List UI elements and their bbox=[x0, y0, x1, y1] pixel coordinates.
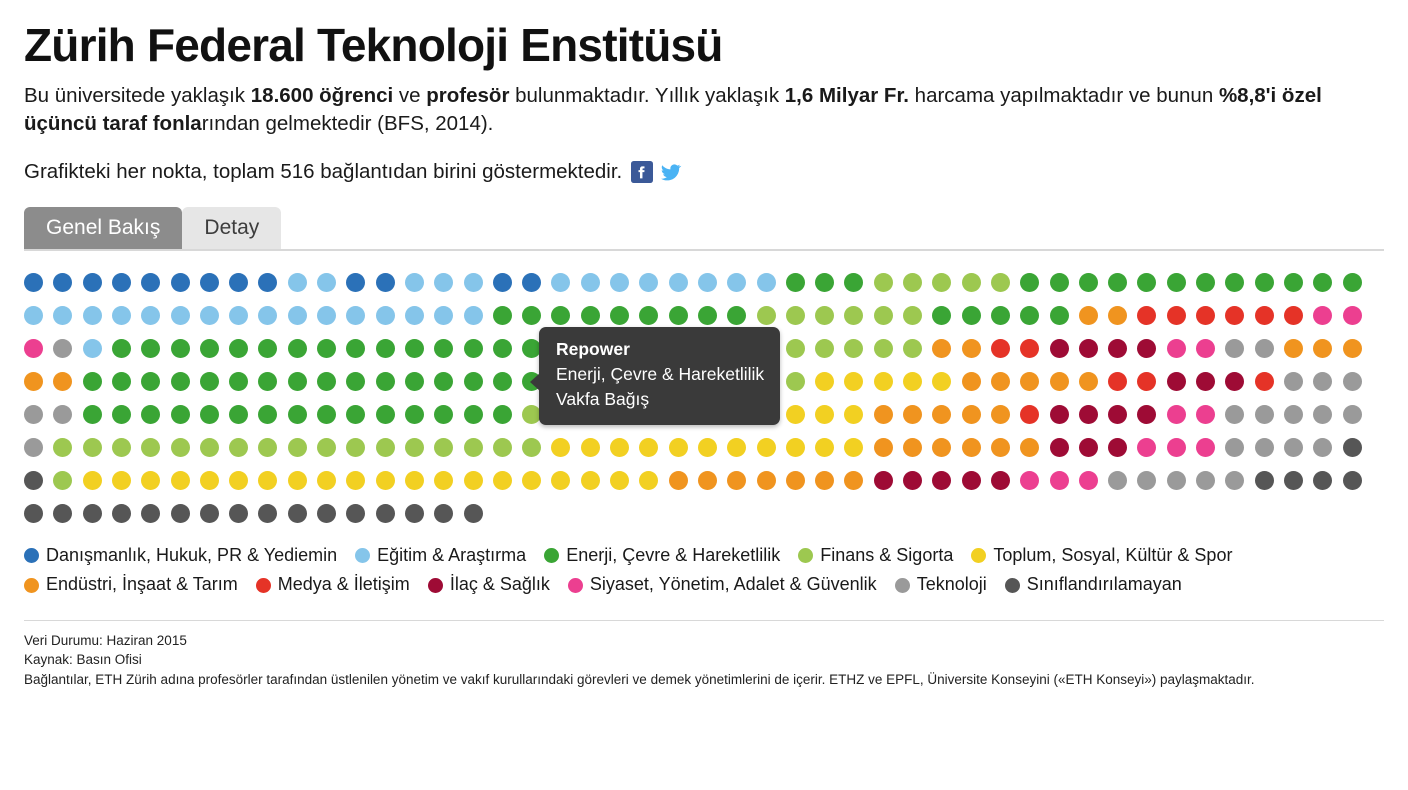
dot[interactable] bbox=[815, 372, 834, 391]
dot[interactable] bbox=[991, 372, 1010, 391]
dot[interactable] bbox=[1225, 438, 1244, 457]
dot[interactable] bbox=[1255, 471, 1274, 490]
dot[interactable] bbox=[1196, 405, 1215, 424]
dot[interactable] bbox=[376, 273, 395, 292]
dot[interactable] bbox=[141, 339, 160, 358]
dot[interactable] bbox=[844, 273, 863, 292]
dot[interactable] bbox=[24, 306, 43, 325]
dot[interactable] bbox=[376, 504, 395, 523]
dot[interactable] bbox=[727, 438, 746, 457]
dot[interactable] bbox=[639, 438, 658, 457]
dot[interactable] bbox=[83, 405, 102, 424]
dot[interactable] bbox=[1343, 273, 1362, 292]
dot[interactable] bbox=[786, 372, 805, 391]
dot[interactable] bbox=[24, 471, 43, 490]
dot[interactable] bbox=[53, 438, 72, 457]
dot[interactable] bbox=[405, 372, 424, 391]
dot[interactable] bbox=[522, 306, 541, 325]
dot[interactable] bbox=[991, 273, 1010, 292]
dot[interactable] bbox=[962, 372, 981, 391]
dot[interactable] bbox=[229, 438, 248, 457]
dot[interactable] bbox=[991, 438, 1010, 457]
dot[interactable] bbox=[551, 438, 570, 457]
dot[interactable] bbox=[229, 306, 248, 325]
dot[interactable] bbox=[171, 405, 190, 424]
dot[interactable] bbox=[1108, 438, 1127, 457]
dot[interactable] bbox=[932, 438, 951, 457]
dot[interactable] bbox=[434, 306, 453, 325]
dot[interactable] bbox=[141, 405, 160, 424]
dot[interactable] bbox=[874, 339, 893, 358]
dot[interactable] bbox=[786, 471, 805, 490]
dot[interactable] bbox=[1167, 471, 1186, 490]
legend-item-endustri[interactable]: Endüstri, İnşaat & Tarım bbox=[24, 570, 238, 599]
dot[interactable] bbox=[112, 438, 131, 457]
dot[interactable] bbox=[1167, 438, 1186, 457]
dot[interactable] bbox=[844, 339, 863, 358]
legend-item-danismanlik[interactable]: Danışmanlık, Hukuk, PR & Yediemin bbox=[24, 541, 337, 570]
dot[interactable] bbox=[434, 273, 453, 292]
dot[interactable] bbox=[991, 339, 1010, 358]
dot[interactable] bbox=[757, 273, 776, 292]
dot[interactable] bbox=[1196, 339, 1215, 358]
dot[interactable] bbox=[258, 504, 277, 523]
dot[interactable] bbox=[1137, 405, 1156, 424]
dot[interactable] bbox=[346, 339, 365, 358]
dot[interactable] bbox=[1196, 471, 1215, 490]
dot[interactable] bbox=[83, 471, 102, 490]
dot[interactable] bbox=[171, 438, 190, 457]
dot[interactable] bbox=[1079, 471, 1098, 490]
legend-item-siniflandirilamayan[interactable]: Sınıflandırılamayan bbox=[1005, 570, 1182, 599]
dot[interactable] bbox=[464, 372, 483, 391]
dot[interactable] bbox=[200, 471, 219, 490]
dot[interactable] bbox=[581, 438, 600, 457]
dot[interactable] bbox=[258, 306, 277, 325]
dot[interactable] bbox=[1020, 339, 1039, 358]
dot[interactable] bbox=[112, 405, 131, 424]
dot[interactable] bbox=[1020, 372, 1039, 391]
dot[interactable] bbox=[815, 438, 834, 457]
dot[interactable] bbox=[932, 405, 951, 424]
dot[interactable] bbox=[141, 273, 160, 292]
dot[interactable] bbox=[1108, 471, 1127, 490]
dot[interactable] bbox=[844, 471, 863, 490]
dot[interactable] bbox=[1079, 339, 1098, 358]
dot[interactable] bbox=[669, 471, 688, 490]
dot[interactable] bbox=[53, 405, 72, 424]
dot[interactable] bbox=[258, 372, 277, 391]
dot[interactable] bbox=[1020, 471, 1039, 490]
dot[interactable] bbox=[1137, 273, 1156, 292]
dot[interactable] bbox=[317, 438, 336, 457]
dot[interactable] bbox=[1108, 273, 1127, 292]
dot[interactable] bbox=[317, 306, 336, 325]
dot[interactable] bbox=[991, 306, 1010, 325]
dot[interactable] bbox=[1050, 273, 1069, 292]
dot[interactable] bbox=[786, 405, 805, 424]
dot[interactable] bbox=[815, 273, 834, 292]
dot[interactable] bbox=[141, 471, 160, 490]
dot[interactable] bbox=[1343, 471, 1362, 490]
dot[interactable] bbox=[434, 471, 453, 490]
dot[interactable] bbox=[434, 504, 453, 523]
dot[interactable] bbox=[83, 438, 102, 457]
dot[interactable] bbox=[464, 504, 483, 523]
dot[interactable] bbox=[932, 372, 951, 391]
dot[interactable] bbox=[493, 339, 512, 358]
dot[interactable] bbox=[903, 405, 922, 424]
dot[interactable] bbox=[376, 405, 395, 424]
dot[interactable] bbox=[551, 306, 570, 325]
dot[interactable] bbox=[1137, 306, 1156, 325]
dot[interactable] bbox=[346, 273, 365, 292]
dot[interactable] bbox=[903, 372, 922, 391]
dot[interactable] bbox=[1313, 405, 1332, 424]
dot[interactable] bbox=[786, 306, 805, 325]
dot[interactable] bbox=[229, 405, 248, 424]
dot[interactable] bbox=[493, 405, 512, 424]
dot[interactable] bbox=[53, 504, 72, 523]
dot[interactable] bbox=[522, 273, 541, 292]
dot[interactable] bbox=[346, 306, 365, 325]
dot[interactable] bbox=[434, 405, 453, 424]
dot[interactable] bbox=[727, 471, 746, 490]
dot[interactable] bbox=[1167, 372, 1186, 391]
dot[interactable] bbox=[610, 438, 629, 457]
dot[interactable] bbox=[1343, 339, 1362, 358]
legend-item-toplum[interactable]: Toplum, Sosyal, Kültür & Spor bbox=[971, 541, 1232, 570]
legend-item-enerji[interactable]: Enerji, Çevre & Hareketlilik bbox=[544, 541, 780, 570]
dot[interactable] bbox=[844, 438, 863, 457]
dot[interactable] bbox=[346, 438, 365, 457]
dot[interactable] bbox=[434, 372, 453, 391]
dot[interactable] bbox=[200, 372, 219, 391]
dot[interactable] bbox=[669, 306, 688, 325]
dot[interactable] bbox=[317, 504, 336, 523]
dot[interactable] bbox=[844, 405, 863, 424]
dot[interactable] bbox=[1079, 405, 1098, 424]
facebook-icon[interactable] bbox=[631, 161, 653, 183]
dot[interactable] bbox=[112, 471, 131, 490]
dot[interactable] bbox=[610, 306, 629, 325]
dot[interactable] bbox=[405, 306, 424, 325]
dot[interactable] bbox=[1079, 273, 1098, 292]
dot[interactable] bbox=[903, 339, 922, 358]
dot[interactable] bbox=[434, 438, 453, 457]
dot[interactable] bbox=[1167, 405, 1186, 424]
dot[interactable] bbox=[83, 306, 102, 325]
dot[interactable] bbox=[1020, 306, 1039, 325]
dot[interactable] bbox=[757, 438, 776, 457]
dot[interactable] bbox=[405, 504, 424, 523]
dot[interactable] bbox=[288, 306, 307, 325]
dot[interactable] bbox=[288, 471, 307, 490]
dot[interactable] bbox=[1050, 306, 1069, 325]
dot[interactable] bbox=[493, 372, 512, 391]
dot[interactable] bbox=[288, 504, 307, 523]
dot[interactable] bbox=[1137, 471, 1156, 490]
dot[interactable] bbox=[83, 273, 102, 292]
dot[interactable] bbox=[1196, 273, 1215, 292]
dot[interactable] bbox=[288, 438, 307, 457]
dot[interactable] bbox=[258, 339, 277, 358]
dot[interactable] bbox=[786, 273, 805, 292]
dot[interactable] bbox=[844, 306, 863, 325]
dot[interactable] bbox=[258, 405, 277, 424]
dot[interactable] bbox=[1313, 372, 1332, 391]
dot[interactable] bbox=[229, 372, 248, 391]
dot[interactable] bbox=[962, 438, 981, 457]
dot[interactable] bbox=[24, 273, 43, 292]
dot[interactable] bbox=[53, 372, 72, 391]
dot[interactable] bbox=[405, 405, 424, 424]
dot[interactable] bbox=[1167, 339, 1186, 358]
dot[interactable] bbox=[1020, 273, 1039, 292]
dot[interactable] bbox=[1313, 273, 1332, 292]
dot[interactable] bbox=[288, 273, 307, 292]
dot[interactable] bbox=[376, 471, 395, 490]
dot[interactable] bbox=[1343, 372, 1362, 391]
dot[interactable] bbox=[639, 471, 658, 490]
dot[interactable] bbox=[1225, 471, 1244, 490]
dot[interactable] bbox=[376, 438, 395, 457]
dot[interactable] bbox=[991, 405, 1010, 424]
dot[interactable] bbox=[405, 438, 424, 457]
dot[interactable] bbox=[727, 306, 746, 325]
dot[interactable] bbox=[346, 405, 365, 424]
legend-item-egitim[interactable]: Eğitim & Araştırma bbox=[355, 541, 526, 570]
tab-genel-bakis[interactable]: Genel Bakış bbox=[24, 207, 182, 249]
dot[interactable] bbox=[1284, 471, 1303, 490]
legend-item-ilac[interactable]: İlaç & Sağlık bbox=[428, 570, 550, 599]
dot[interactable] bbox=[962, 405, 981, 424]
dot[interactable] bbox=[434, 339, 453, 358]
dot[interactable] bbox=[1284, 438, 1303, 457]
legend-item-teknoloji[interactable]: Teknoloji bbox=[895, 570, 987, 599]
dot[interactable] bbox=[53, 306, 72, 325]
dot[interactable] bbox=[962, 339, 981, 358]
dot[interactable] bbox=[1284, 273, 1303, 292]
dot[interactable] bbox=[1196, 306, 1215, 325]
dot[interactable] bbox=[757, 471, 776, 490]
dot[interactable] bbox=[1196, 438, 1215, 457]
legend-item-finans[interactable]: Finans & Sigorta bbox=[798, 541, 953, 570]
dot[interactable] bbox=[171, 504, 190, 523]
dot[interactable] bbox=[551, 273, 570, 292]
dot[interactable] bbox=[24, 438, 43, 457]
dot[interactable] bbox=[610, 471, 629, 490]
dot[interactable] bbox=[1079, 306, 1098, 325]
dot[interactable] bbox=[53, 471, 72, 490]
dot[interactable] bbox=[1225, 405, 1244, 424]
dot[interactable] bbox=[141, 438, 160, 457]
dot[interactable] bbox=[962, 273, 981, 292]
dot[interactable] bbox=[200, 504, 219, 523]
dot[interactable] bbox=[53, 273, 72, 292]
dot[interactable] bbox=[903, 471, 922, 490]
dot[interactable] bbox=[1196, 372, 1215, 391]
dot[interactable] bbox=[815, 306, 834, 325]
dot[interactable] bbox=[317, 339, 336, 358]
dot[interactable] bbox=[200, 339, 219, 358]
dot[interactable] bbox=[464, 471, 483, 490]
dot[interactable] bbox=[24, 339, 43, 358]
dot[interactable] bbox=[288, 339, 307, 358]
dot[interactable] bbox=[288, 405, 307, 424]
dot[interactable] bbox=[1020, 438, 1039, 457]
dot[interactable] bbox=[258, 273, 277, 292]
dot[interactable] bbox=[229, 504, 248, 523]
dot[interactable] bbox=[757, 306, 776, 325]
dot[interactable] bbox=[962, 471, 981, 490]
dot[interactable] bbox=[844, 372, 863, 391]
dot[interactable] bbox=[405, 471, 424, 490]
dot[interactable] bbox=[698, 306, 717, 325]
dot[interactable] bbox=[1255, 405, 1274, 424]
dot[interactable] bbox=[874, 372, 893, 391]
dot[interactable] bbox=[83, 504, 102, 523]
dot[interactable] bbox=[229, 273, 248, 292]
dot[interactable] bbox=[1313, 471, 1332, 490]
dot[interactable] bbox=[1108, 306, 1127, 325]
dot[interactable] bbox=[464, 273, 483, 292]
dot[interactable] bbox=[1225, 306, 1244, 325]
dot[interactable] bbox=[376, 339, 395, 358]
dot[interactable] bbox=[317, 405, 336, 424]
dot[interactable] bbox=[1137, 438, 1156, 457]
dot[interactable] bbox=[1108, 405, 1127, 424]
dot[interactable] bbox=[1284, 405, 1303, 424]
dot[interactable] bbox=[171, 471, 190, 490]
dot[interactable] bbox=[53, 339, 72, 358]
dot[interactable] bbox=[903, 273, 922, 292]
dot[interactable] bbox=[346, 372, 365, 391]
dot[interactable] bbox=[932, 306, 951, 325]
dot[interactable] bbox=[1313, 438, 1332, 457]
dot[interactable] bbox=[874, 438, 893, 457]
dot[interactable] bbox=[493, 438, 512, 457]
dot[interactable] bbox=[200, 306, 219, 325]
dot[interactable] bbox=[288, 372, 307, 391]
dot[interactable] bbox=[405, 273, 424, 292]
dot[interactable] bbox=[171, 273, 190, 292]
dot[interactable] bbox=[1167, 306, 1186, 325]
dot[interactable] bbox=[1050, 372, 1069, 391]
dot[interactable] bbox=[727, 273, 746, 292]
dot[interactable] bbox=[405, 339, 424, 358]
dot[interactable] bbox=[1255, 339, 1274, 358]
dot[interactable] bbox=[1108, 372, 1127, 391]
dot[interactable] bbox=[1313, 339, 1332, 358]
dot[interactable] bbox=[581, 273, 600, 292]
dot[interactable] bbox=[962, 306, 981, 325]
dot[interactable] bbox=[376, 306, 395, 325]
dot[interactable] bbox=[1284, 372, 1303, 391]
dot[interactable] bbox=[874, 405, 893, 424]
dot[interactable] bbox=[258, 471, 277, 490]
dot[interactable] bbox=[346, 471, 365, 490]
dot[interactable] bbox=[1225, 372, 1244, 391]
dot[interactable] bbox=[903, 306, 922, 325]
dot[interactable] bbox=[1343, 405, 1362, 424]
dot[interactable] bbox=[1050, 471, 1069, 490]
dot[interactable] bbox=[376, 372, 395, 391]
dot[interactable] bbox=[171, 339, 190, 358]
dot[interactable] bbox=[346, 504, 365, 523]
dot[interactable] bbox=[24, 372, 43, 391]
dot[interactable] bbox=[581, 306, 600, 325]
dot[interactable] bbox=[786, 339, 805, 358]
dot[interactable] bbox=[1050, 438, 1069, 457]
dot[interactable] bbox=[1167, 273, 1186, 292]
dot[interactable] bbox=[317, 273, 336, 292]
dot[interactable] bbox=[112, 273, 131, 292]
dot[interactable] bbox=[1255, 306, 1274, 325]
dot[interactable] bbox=[815, 339, 834, 358]
dot[interactable] bbox=[1020, 405, 1039, 424]
dot[interactable] bbox=[258, 438, 277, 457]
dot[interactable] bbox=[141, 372, 160, 391]
dot[interactable] bbox=[464, 438, 483, 457]
dot[interactable] bbox=[874, 273, 893, 292]
dot[interactable] bbox=[112, 372, 131, 391]
dot[interactable] bbox=[1225, 339, 1244, 358]
dot[interactable] bbox=[639, 306, 658, 325]
dot[interactable] bbox=[1050, 339, 1069, 358]
dot[interactable] bbox=[639, 273, 658, 292]
dot[interactable] bbox=[1255, 372, 1274, 391]
dot[interactable] bbox=[493, 306, 512, 325]
dot[interactable] bbox=[1137, 372, 1156, 391]
dot[interactable] bbox=[112, 504, 131, 523]
dot[interactable] bbox=[200, 438, 219, 457]
dot[interactable] bbox=[1050, 405, 1069, 424]
dot[interactable] bbox=[1255, 273, 1274, 292]
dot[interactable] bbox=[200, 273, 219, 292]
dot[interactable] bbox=[493, 471, 512, 490]
twitter-icon[interactable] bbox=[660, 161, 682, 183]
dot[interactable] bbox=[932, 273, 951, 292]
dot[interactable] bbox=[669, 273, 688, 292]
dot[interactable] bbox=[24, 504, 43, 523]
dot[interactable] bbox=[1255, 438, 1274, 457]
dot[interactable] bbox=[141, 504, 160, 523]
dot[interactable] bbox=[1137, 339, 1156, 358]
tab-detay[interactable]: Detay bbox=[182, 207, 281, 249]
dot[interactable] bbox=[317, 372, 336, 391]
dot[interactable] bbox=[229, 339, 248, 358]
dot[interactable] bbox=[522, 471, 541, 490]
dot[interactable] bbox=[1108, 339, 1127, 358]
dot[interactable] bbox=[83, 372, 102, 391]
dot[interactable] bbox=[874, 471, 893, 490]
dot[interactable] bbox=[698, 273, 717, 292]
dot[interactable] bbox=[1343, 306, 1362, 325]
dot[interactable] bbox=[493, 273, 512, 292]
dot[interactable] bbox=[1079, 372, 1098, 391]
dot[interactable] bbox=[112, 339, 131, 358]
dot[interactable] bbox=[1225, 273, 1244, 292]
dot[interactable] bbox=[991, 471, 1010, 490]
dot[interactable] bbox=[24, 405, 43, 424]
dot[interactable] bbox=[141, 306, 160, 325]
dot[interactable] bbox=[581, 471, 600, 490]
dot[interactable] bbox=[522, 438, 541, 457]
dot[interactable] bbox=[669, 438, 688, 457]
legend-item-medya[interactable]: Medya & İletişim bbox=[256, 570, 410, 599]
dot[interactable] bbox=[874, 306, 893, 325]
